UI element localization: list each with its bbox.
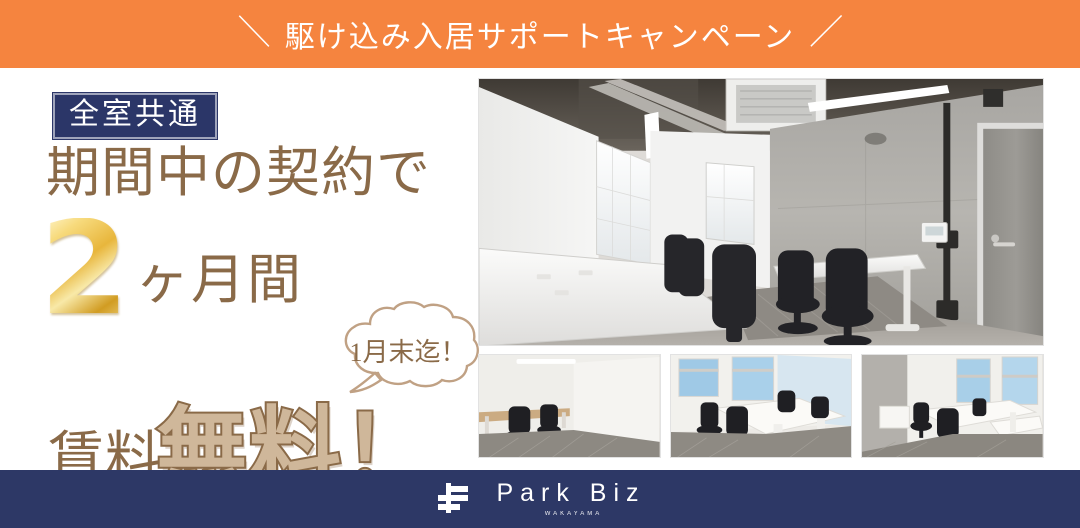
promo-headline: 期間中の契約で (46, 146, 431, 200)
hero-office-photo (478, 78, 1044, 346)
banner-title: 駆け込み入居サポートキャンペーン (285, 12, 796, 56)
thumbnail-office-room-with-wood-desk[interactable] (478, 354, 661, 458)
brand-name: Park Biz (496, 481, 645, 506)
promo-duration-row: 2 ヶ月間 (40, 218, 303, 323)
deadline-speech-bubble: 1月末迄！ (334, 300, 482, 404)
campaign-banner: ＼ 駆け込み入居サポートキャンペーン ／ (0, 0, 1080, 68)
thumbnail-meeting-room-with-white-table[interactable] (670, 354, 853, 458)
banner-slash-left: ＼ (236, 17, 271, 51)
all-rooms-badge: 全室共通 (52, 92, 218, 140)
banner-slash-right: ／ (809, 17, 843, 51)
brand-logo[interactable]: Park Biz WAKAYAMA (496, 481, 645, 517)
thumbnail-desks-along-window[interactable] (861, 354, 1044, 458)
thumb-2-illustration (671, 355, 852, 458)
brand-location: WAKAYAMA (545, 511, 603, 517)
logo-mark-svg (434, 483, 474, 515)
promo-month-number: 2 (40, 218, 135, 323)
thumb-1-illustration (479, 355, 660, 458)
promo-copy-block: 全室共通 期間中の契約で 2 ヶ月間 賃料 無料！ 1月末迄！ (0, 68, 470, 470)
stacked-bars-logo-icon (434, 483, 474, 515)
site-footer: Park Biz WAKAYAMA (0, 470, 1080, 528)
hero-photo-illustration (479, 79, 1043, 346)
promo-month-unit: ヶ月間 (135, 253, 303, 323)
deadline-text: 1月末迄！ (334, 332, 482, 369)
thumb-3-illustration (862, 355, 1043, 458)
thumbnail-gallery (478, 354, 1044, 458)
